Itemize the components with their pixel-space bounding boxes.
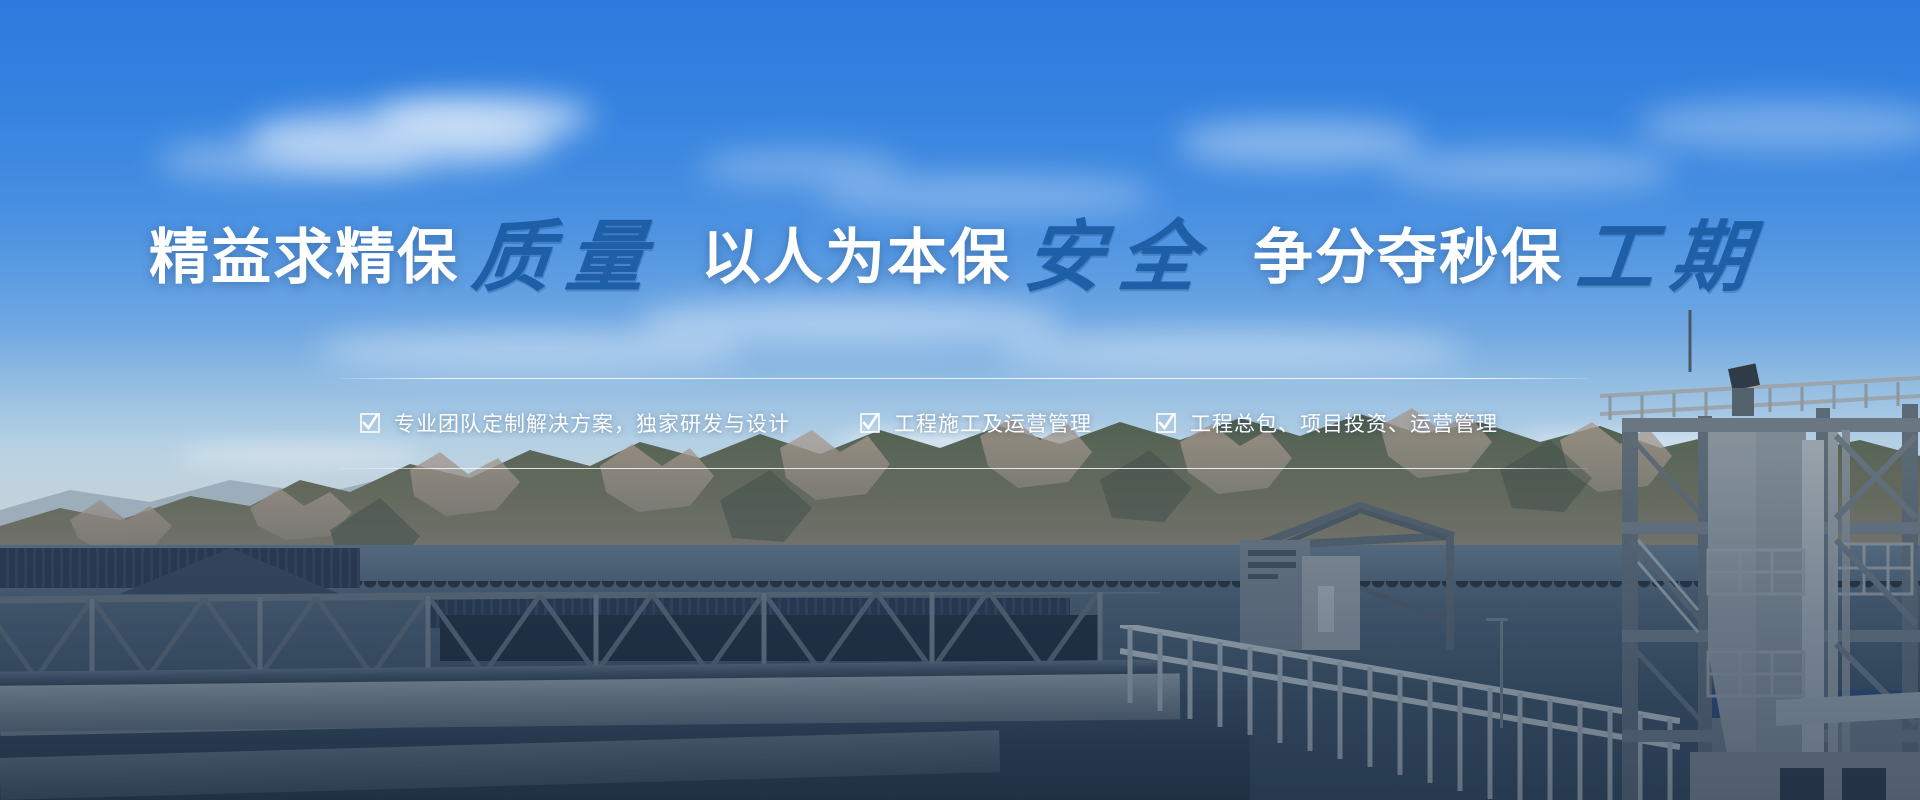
banner-hero: 精益求精保 质量 以人为本保 安全 争分夺秒保 工期 专业团队定制解决方案，独家… [0,0,1920,800]
feature-item-2: 工程施工及运营管理 [860,408,1092,438]
feature-label-2: 工程施工及运营管理 [894,408,1092,438]
divider-bottom [340,468,1588,469]
checkbox-checked-icon [860,413,880,433]
headline-plain-3: 争分夺秒保 [1253,209,1563,296]
headline-accent-2: 安全 [1021,223,1216,293]
feature-item-3: 工程总包、项目投资、运营管理 [1156,408,1498,438]
light-pole [1500,618,1503,728]
divider-top [340,378,1588,379]
headline-segment-2: 以人为本保 安全 [701,209,1219,296]
headline-plain-1: 精益求精保 [149,209,459,296]
headline-segment-3: 争分夺秒保 工期 [1253,209,1771,296]
feature-item-1: 专业团队定制解决方案，独家研发与设计 [360,408,790,438]
headline-accent-3: 工期 [1573,223,1768,293]
checkbox-checked-icon [1156,413,1176,433]
headline-plain-2: 以人为本保 [701,209,1011,296]
headline-accent-1: 质量 [469,223,664,293]
feature-list: 专业团队定制解决方案，独家研发与设计 工程施工及运营管理 工程总包、项目投资、运… [340,398,1588,448]
headline-segment-1: 精益求精保 质量 [149,209,667,296]
light-pole-arm [1486,618,1508,621]
feature-label-1: 专业团队定制解决方案，独家研发与设计 [394,408,790,438]
steel-frame-tower [1580,300,1920,800]
feature-label-3: 工程总包、项目投资、运营管理 [1190,408,1498,438]
headline: 精益求精保 质量 以人为本保 安全 争分夺秒保 工期 [0,206,1920,298]
checkbox-checked-icon [360,413,380,433]
